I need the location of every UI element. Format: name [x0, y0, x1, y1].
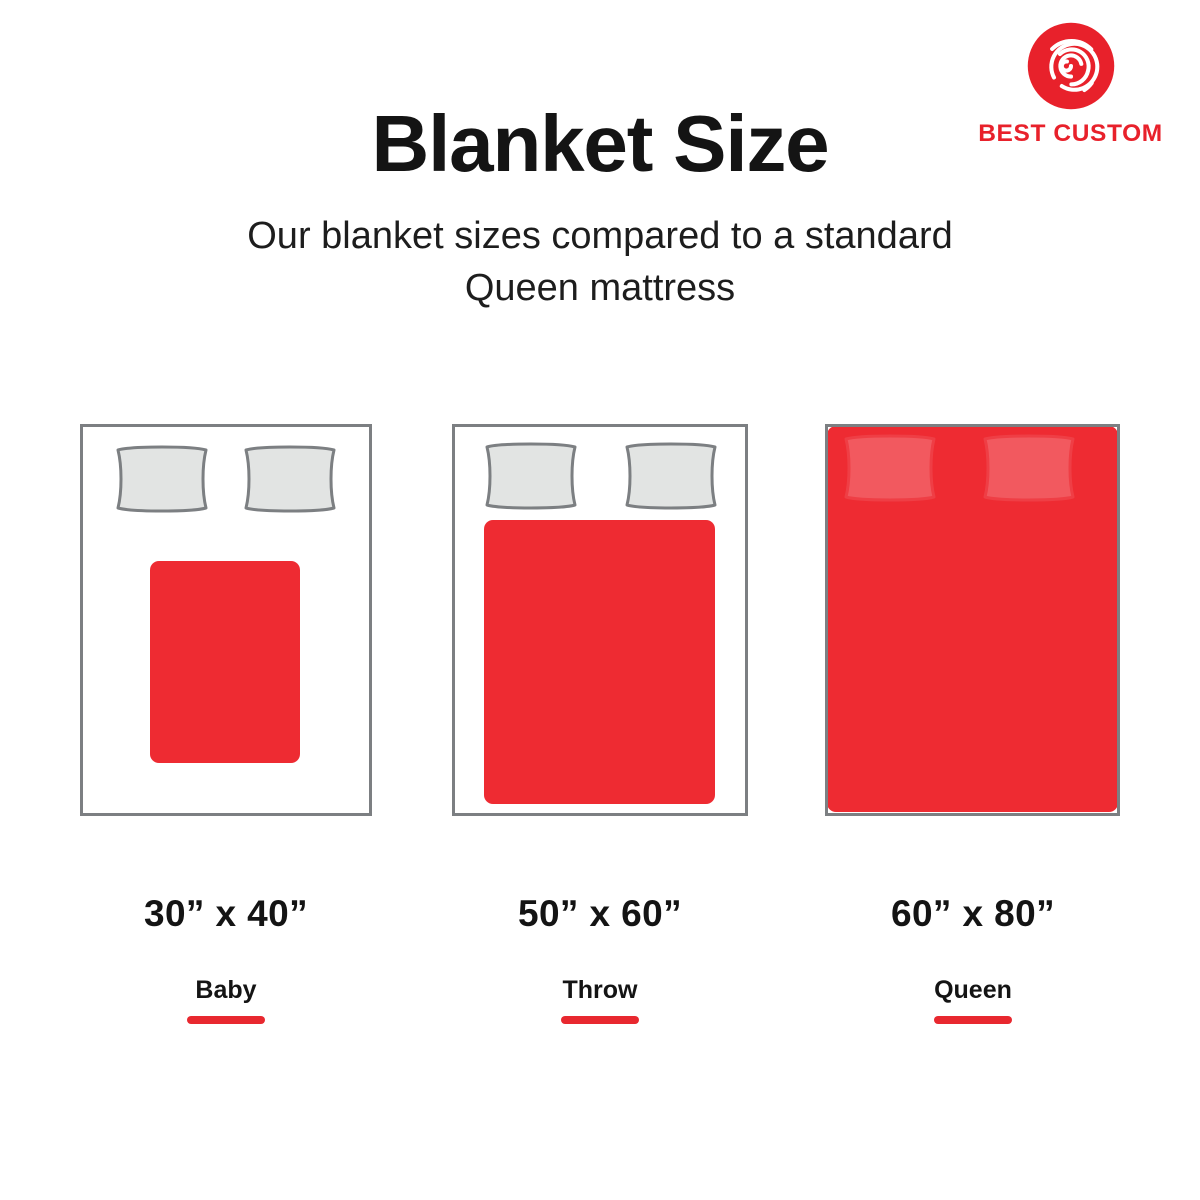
caption-dimensions: 50” x 60” [420, 895, 780, 932]
pillow-icon [840, 433, 940, 503]
caption-underline [187, 1016, 265, 1024]
caption-underline [561, 1016, 639, 1024]
bed-comparison-row [0, 424, 1200, 816]
pillow-icon [621, 441, 721, 511]
bed-diagram-throw [452, 424, 748, 816]
blanket-throw [484, 520, 715, 804]
blanket-baby [150, 561, 300, 763]
caption-dimensions: 60” x 80” [793, 895, 1153, 932]
caption-baby: 30” x 40” Baby [46, 895, 406, 1024]
caption-throw: 50” x 60” Throw [420, 895, 780, 1024]
bed-surface [455, 427, 745, 813]
caption-underline [934, 1016, 1012, 1024]
page-subtitle: Our blanket sizes compared to a standard… [220, 184, 980, 315]
page-title: Blanket Size [0, 0, 1200, 184]
captions-row: 30” x 40” Baby 50” x 60” Throw 60” x 80”… [0, 895, 1200, 1045]
header-block: Blanket Size Our blanket sizes compared … [0, 0, 1200, 315]
caption-size-name: Baby [46, 978, 406, 1003]
pillow-icon [112, 444, 212, 514]
caption-size-name: Queen [793, 978, 1153, 1003]
bed-surface [83, 427, 369, 813]
bed-surface [828, 427, 1117, 813]
pillow-icon [481, 441, 581, 511]
caption-size-name: Throw [420, 978, 780, 1003]
caption-queen: 60” x 80” Queen [793, 895, 1153, 1024]
bed-diagram-baby [80, 424, 372, 816]
pillow-icon [979, 433, 1079, 503]
caption-dimensions: 30” x 40” [46, 895, 406, 932]
bed-diagram-queen [825, 424, 1120, 816]
pillow-icon [240, 444, 340, 514]
